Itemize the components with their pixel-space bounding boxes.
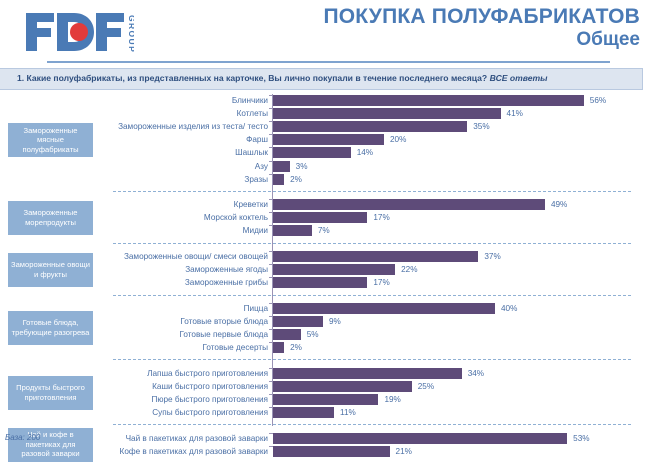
bar-value-label: 49%: [551, 200, 567, 209]
question-text: 1. Какие полуфабрикаты, из представленны…: [17, 73, 548, 83]
group-label-text: Замороженные мясные полуфабрикаты: [11, 126, 90, 154]
bar-fill: [273, 407, 334, 418]
bar-chart: Блинчики56%Котлеты41%Замороженные издели…: [0, 92, 650, 430]
bar-fill: [273, 174, 284, 185]
bar-value-label: 3%: [296, 162, 308, 171]
bar-value-label: 21%: [396, 447, 412, 456]
group-label-text: Готовые блюда, требующие разогрева: [11, 318, 90, 337]
group-label-box: Продукты быстрого приготовления: [8, 376, 93, 410]
bar-value-label: 7%: [318, 226, 330, 235]
bar-value-label: 56%: [590, 96, 606, 105]
bar-row: Мидии7%: [0, 225, 650, 238]
bar-fill: [273, 277, 367, 288]
logo-svg: GROUP: [24, 7, 134, 57]
group-label-text: Замороженные овощи и фрукты: [11, 260, 90, 279]
bar-row: Готовые вторые блюда9%: [0, 316, 650, 329]
bar-value-label: 17%: [373, 213, 389, 222]
bar-value-label: 2%: [290, 343, 302, 352]
bar-fill: [273, 316, 323, 327]
bar-row: Шашлык14%: [0, 147, 650, 160]
bar-category-label: Котлеты: [0, 109, 268, 118]
bar-row: Замороженные ягоды22%: [0, 264, 650, 277]
bar-row: Морской коктель17%: [0, 212, 650, 225]
bar-fill: [273, 212, 367, 223]
bar-row: Каши быстрого приготовления25%: [0, 381, 650, 394]
group-divider: [113, 359, 631, 360]
bar-fill: [273, 161, 290, 172]
bar-value-label: 37%: [484, 252, 500, 261]
bar-fill: [273, 342, 284, 353]
group-label-text: Продукты быстрого приготовления: [11, 383, 90, 402]
group-label-box: Замороженные мясные полуфабрикаты: [8, 123, 93, 157]
group-label-box: Готовые блюда, требующие разогрева: [8, 311, 93, 345]
svg-text:GROUP: GROUP: [127, 15, 134, 53]
bar-fill: [273, 225, 312, 236]
bar-row: Котлеты41%: [0, 108, 650, 121]
bar-value-label: 22%: [401, 265, 417, 274]
bar-fill: [273, 134, 384, 145]
bar-row: Пицца40%: [0, 303, 650, 316]
bar-category-label: Зразы: [0, 175, 268, 184]
group-label-box: Замороженные овощи и фрукты: [8, 253, 93, 287]
bar-value-label: 11%: [340, 408, 356, 417]
fdf-group-logo: GROUP: [24, 7, 134, 57]
bar-fill: [273, 147, 351, 158]
bar-row: Супы быстрого приготовления11%: [0, 407, 650, 420]
page-header: GROUP ПОКУПКА ПОЛУФАБРИКАТОВ Общее: [0, 0, 650, 60]
bar-value-label: 20%: [390, 135, 406, 144]
bar-row: Замороженные овощи/ смеси овощей37%: [0, 251, 650, 264]
bar-value-label: 25%: [418, 382, 434, 391]
bar-value-label: 19%: [384, 395, 400, 404]
base-note: База: 200: [5, 433, 40, 442]
group-divider: [113, 243, 631, 244]
bar-value-label: 5%: [307, 330, 319, 339]
bar-category-label: Блинчики: [0, 96, 268, 105]
bar-fill: [273, 251, 478, 262]
bar-fill: [273, 446, 390, 457]
bar-value-label: 35%: [473, 122, 489, 131]
bar-row: Замороженные грибы17%: [0, 277, 650, 290]
bar-fill: [273, 108, 501, 119]
bar-row: Блинчики56%: [0, 95, 650, 108]
bar-row: Пюре быстрого приготовления19%: [0, 394, 650, 407]
bar-row: Готовые десерты2%: [0, 342, 650, 355]
group-divider: [113, 424, 631, 425]
bar-fill: [273, 329, 301, 340]
group-label-text: Замороженные морепродукты: [11, 208, 90, 227]
page-title: ПОКУПКА ПОЛУФАБРИКАТОВ: [323, 6, 640, 29]
bar-fill: [273, 95, 584, 106]
group-divider: [113, 191, 631, 192]
bar-value-label: 40%: [501, 304, 517, 313]
bar-fill: [273, 394, 378, 405]
page-subtitle: Общее: [323, 30, 640, 51]
bar-fill: [273, 433, 567, 444]
bar-fill: [273, 381, 412, 392]
bar-fill: [273, 121, 467, 132]
bar-value-label: 2%: [290, 175, 302, 184]
group-label-box: Замороженные морепродукты: [8, 201, 93, 235]
bar-fill: [273, 368, 462, 379]
bar-category-label: Азу: [0, 162, 268, 171]
bar-row: Замороженные изделия из теста/ тесто35%: [0, 121, 650, 134]
bar-row: Фарш20%: [0, 134, 650, 147]
bar-row: Креветки49%: [0, 199, 650, 212]
bar-value-label: 34%: [468, 369, 484, 378]
bar-value-label: 53%: [573, 434, 589, 443]
question-text-italic: ВСЕ ответы: [490, 73, 548, 83]
bar-value-label: 17%: [373, 278, 389, 287]
question-bar: 1. Какие полуфабрикаты, из представленны…: [0, 68, 643, 90]
bar-fill: [273, 264, 395, 275]
bar-row: Готовые первые блюда5%: [0, 329, 650, 342]
title-block: ПОКУПКА ПОЛУФАБРИКАТОВ Общее: [323, 6, 640, 50]
question-text-normal: 1. Какие полуфабрикаты, из представленны…: [17, 73, 490, 83]
bar-fill: [273, 303, 495, 314]
bar-value-label: 14%: [357, 148, 373, 157]
bar-row: Чай в пакетиках для разовой заварки53%: [0, 433, 650, 446]
bar-row: Лапша быстрого приготовления34%: [0, 368, 650, 381]
bar-value-label: 41%: [507, 109, 523, 118]
bar-row: Зразы2%: [0, 174, 650, 187]
bar-fill: [273, 199, 545, 210]
header-divider-rule: [47, 61, 610, 63]
bar-row: Азу3%: [0, 161, 650, 174]
bar-value-label: 9%: [329, 317, 341, 326]
group-divider: [113, 295, 631, 296]
bar-row: Кофе в пакетиках для разовой заварки21%: [0, 446, 650, 459]
